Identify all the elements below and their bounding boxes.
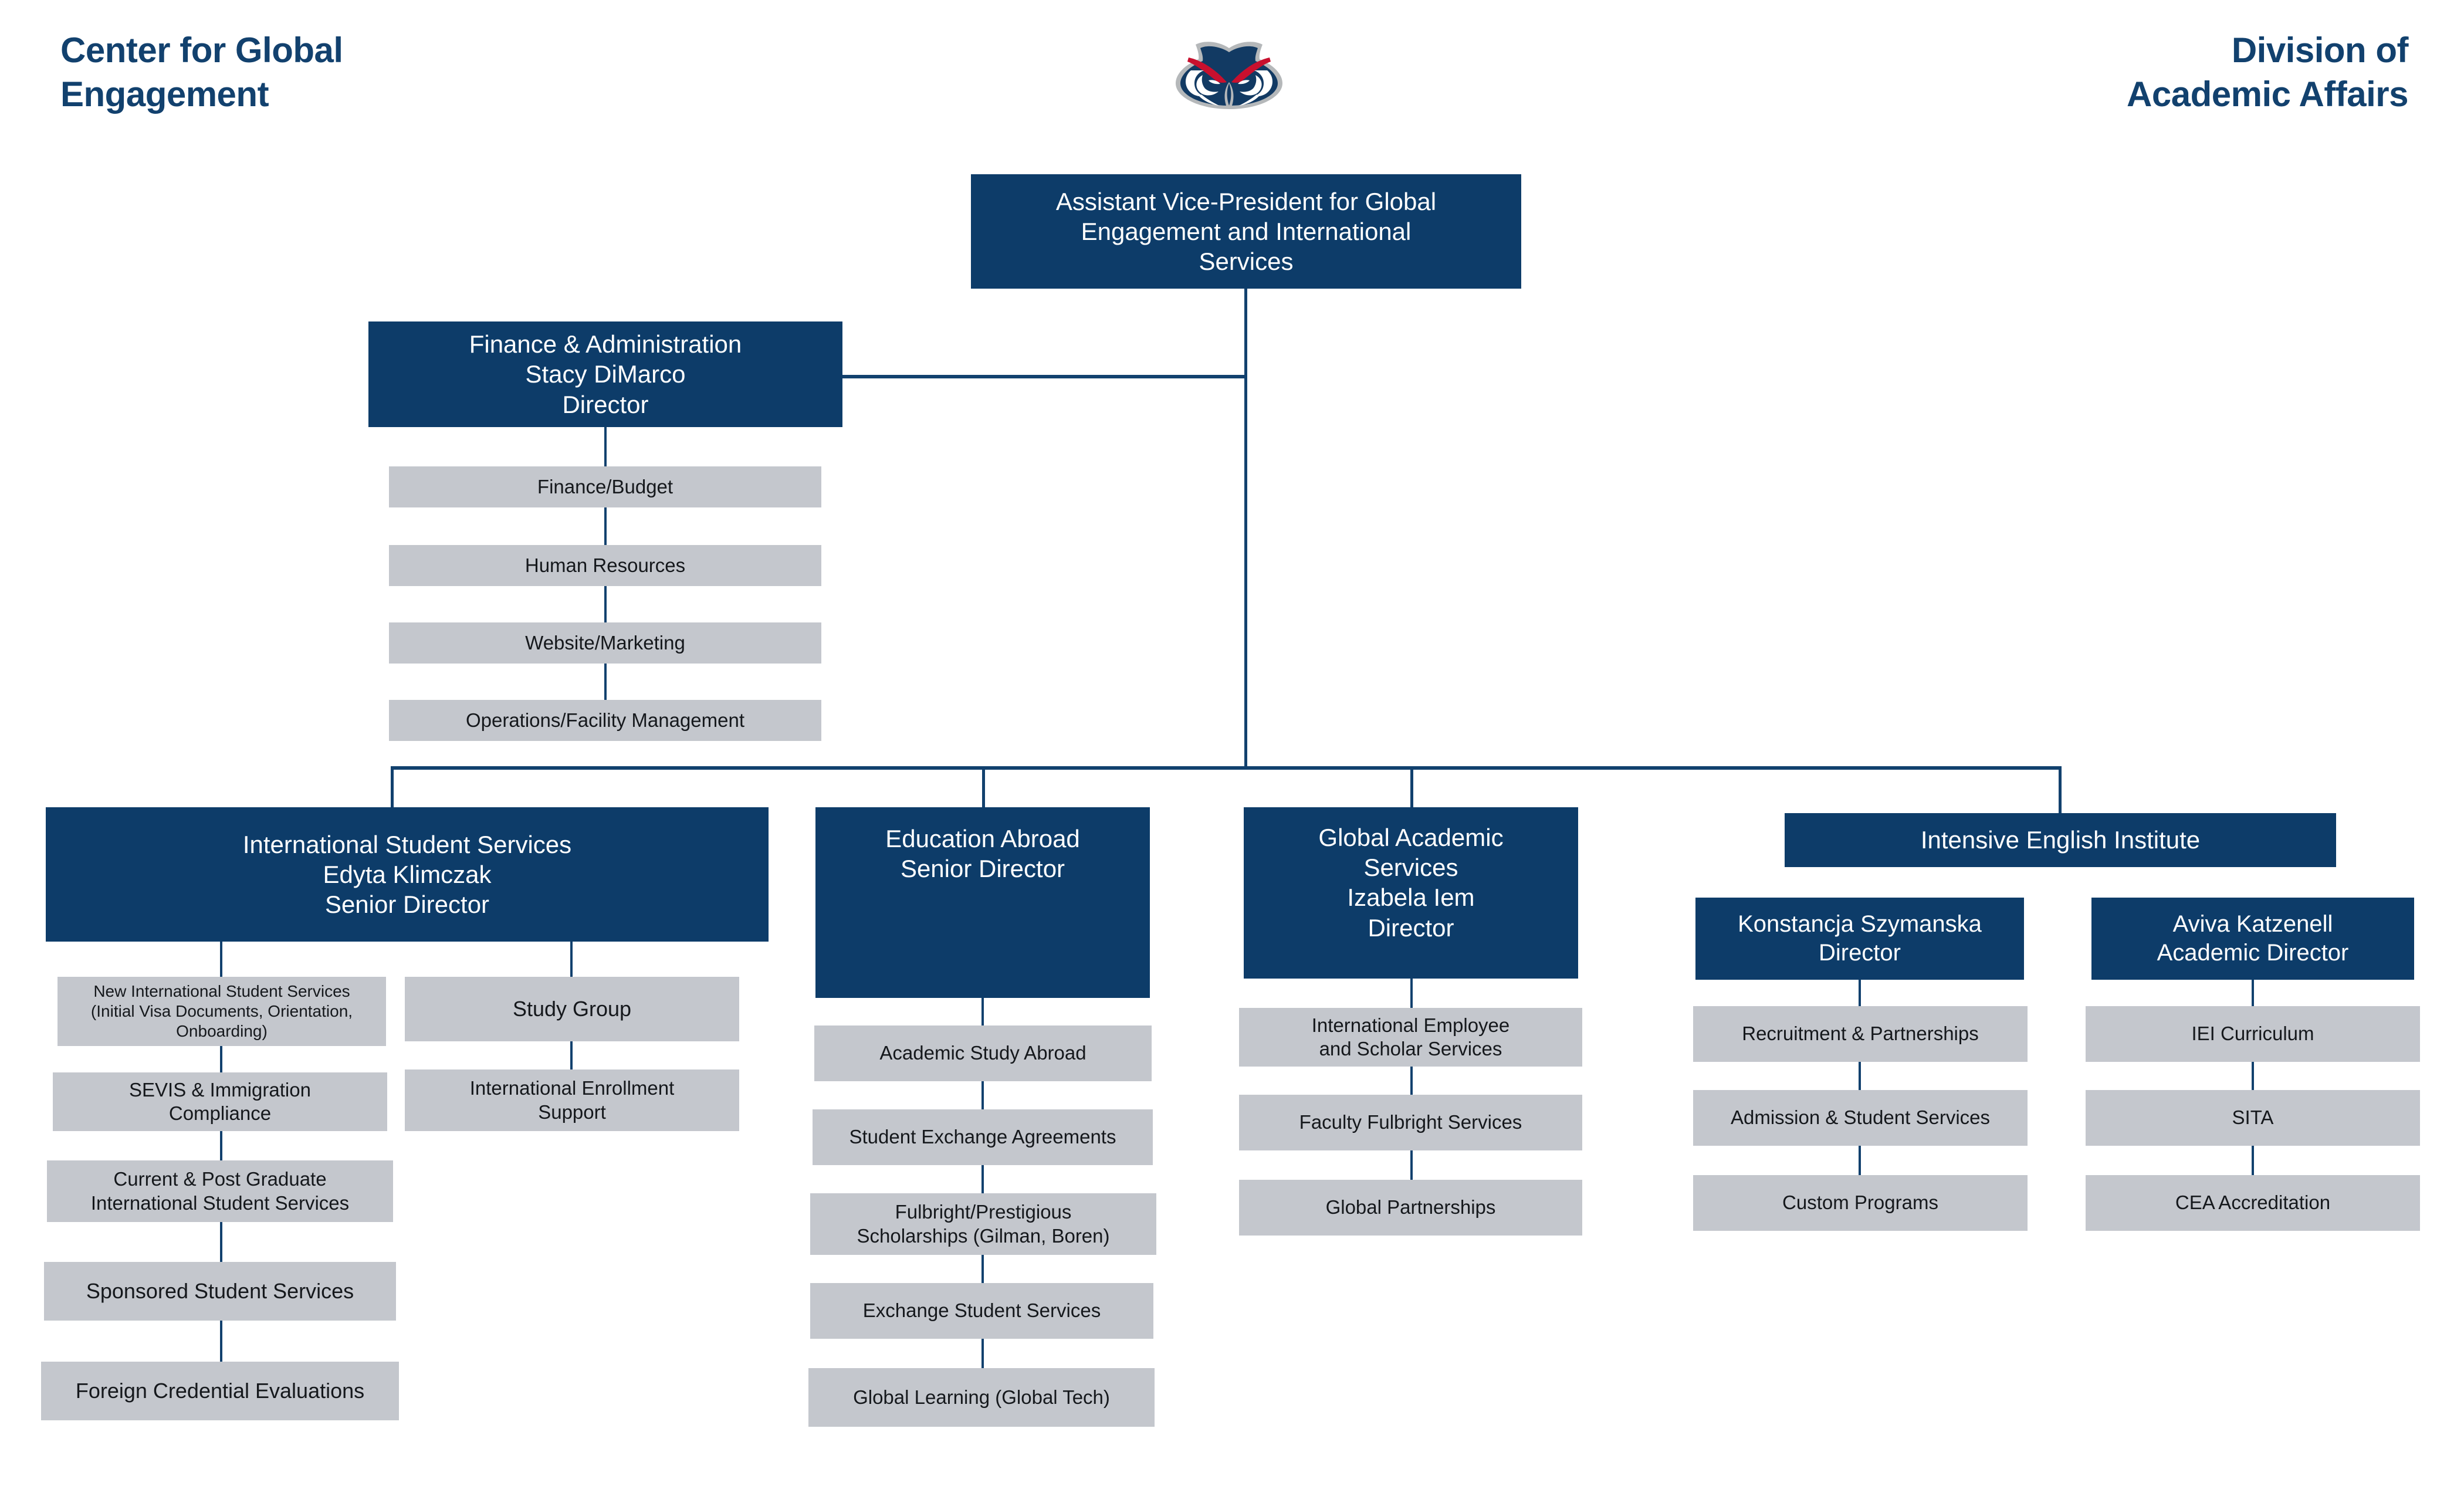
- connector-ea1-ea2: [981, 1081, 984, 1109]
- connector-finance-drop: [604, 427, 607, 466]
- node-sponsored-student-services[interactable]: Sponsored Student Services: [44, 1262, 396, 1321]
- node-konstancja-szymanska-director[interactable]: Konstancja Szymanska Director: [1695, 898, 2024, 980]
- node-sita[interactable]: SITA: [2086, 1090, 2420, 1146]
- connector-ieiacad1-2: [2252, 1062, 2254, 1090]
- node-intensive-english-institute[interactable]: Intensive English Institute: [1785, 813, 2336, 867]
- node-academic-study-abroad[interactable]: Academic Study Abroad: [814, 1025, 1152, 1081]
- node-website-marketing[interactable]: Website/Marketing: [389, 622, 821, 664]
- node-international-enrollment-support[interactable]: International Enrollment Support: [405, 1069, 739, 1131]
- connector-fin3-fin4: [604, 664, 607, 700]
- connector-fin1-fin2: [604, 507, 607, 545]
- connector-iss-right-drop: [570, 942, 573, 978]
- node-study-group[interactable]: Study Group: [405, 977, 739, 1041]
- connector-iss1-iss2: [220, 1046, 222, 1072]
- node-global-learning-global-tech[interactable]: Global Learning (Global Tech): [808, 1368, 1155, 1427]
- node-student-exchange-agreements[interactable]: Student Exchange Agreements: [813, 1109, 1153, 1165]
- page-title-right: Division of Academic Affairs: [1962, 28, 2408, 116]
- connector-iss-left-drop: [220, 942, 222, 978]
- page-title-left: Center for Global Engagement: [60, 28, 483, 116]
- node-custom-programs[interactable]: Custom Programs: [1693, 1175, 2028, 1231]
- node-current-post-graduate-international-student-services[interactable]: Current & Post Graduate International St…: [47, 1160, 393, 1222]
- node-international-student-services[interactable]: International Student Services Edyta Kli…: [46, 807, 769, 942]
- connector-bus-to-iss: [391, 766, 394, 807]
- node-operations-facility-management[interactable]: Operations/Facility Management: [389, 700, 821, 741]
- node-new-international-student-services[interactable]: New International Student Services (Init…: [57, 977, 386, 1046]
- node-global-partnerships[interactable]: Global Partnerships: [1239, 1180, 1582, 1236]
- node-faculty-fulbright-services[interactable]: Faculty Fulbright Services: [1239, 1095, 1582, 1150]
- node-exchange-student-services[interactable]: Exchange Student Services: [810, 1283, 1153, 1339]
- connector-ieidir-drop: [1859, 980, 1861, 1006]
- connector-division-bus: [391, 766, 2062, 770]
- connector-gas1-gas2: [1410, 1067, 1413, 1095]
- connector-ea-drop: [981, 998, 984, 1025]
- connector-finance-to-spine: [842, 375, 1246, 378]
- node-avp[interactable]: Assistant Vice-President for Global Enga…: [971, 174, 1521, 289]
- connector-iss2-iss3: [220, 1131, 222, 1160]
- connector-ieidir2-3: [1859, 1146, 1861, 1175]
- connector-gas-drop: [1410, 979, 1413, 1008]
- org-chart-canvas: Center for Global Engagement Division of…: [0, 0, 2464, 1496]
- connector-gas2-gas3: [1410, 1150, 1413, 1180]
- connector-ieiacad-drop: [2252, 980, 2254, 1006]
- connector-fin2-fin3: [604, 586, 607, 622]
- node-finance-budget[interactable]: Finance/Budget: [389, 466, 821, 507]
- connector-ieiacad2-3: [2252, 1146, 2254, 1175]
- connector-sg1-sg2: [570, 1041, 573, 1069]
- node-human-resources[interactable]: Human Resources: [389, 545, 821, 586]
- node-fulbright-prestigious-scholarships[interactable]: Fulbright/Prestigious Scholarships (Gilm…: [810, 1193, 1156, 1255]
- node-sevis-immigration-compliance[interactable]: SEVIS & Immigration Compliance: [53, 1072, 387, 1131]
- connector-bus-to-ea: [982, 766, 985, 807]
- connector-iss3-iss4: [220, 1222, 222, 1262]
- connector-iss4-iss5: [220, 1321, 222, 1362]
- node-cea-accreditation[interactable]: CEA Accreditation: [2086, 1175, 2420, 1231]
- connector-ea2-ea3: [981, 1165, 984, 1193]
- connector-ea3-ea4: [981, 1255, 984, 1283]
- connector-bus-to-iei: [2059, 766, 2062, 813]
- node-foreign-credential-evaluations[interactable]: Foreign Credential Evaluations: [41, 1362, 399, 1420]
- node-recruitment-partnerships[interactable]: Recruitment & Partnerships: [1693, 1006, 2028, 1062]
- connector-ea4-ea5: [981, 1339, 984, 1368]
- node-iei-curriculum[interactable]: IEI Curriculum: [2086, 1006, 2420, 1062]
- node-education-abroad[interactable]: Education Abroad Senior Director: [815, 807, 1150, 998]
- node-international-employee-scholar-services[interactable]: International Employee and Scholar Servi…: [1239, 1008, 1582, 1067]
- fau-owl-logo-icon: [1167, 40, 1291, 110]
- node-finance-administration[interactable]: Finance & Administration Stacy DiMarco D…: [368, 321, 842, 427]
- connector-bus-to-gas: [1410, 766, 1413, 807]
- node-admission-student-services[interactable]: Admission & Student Services: [1693, 1090, 2028, 1146]
- connector-ieidir1-2: [1859, 1062, 1861, 1090]
- node-global-academic-services[interactable]: Global Academic Services Izabela Iem Dir…: [1244, 807, 1578, 979]
- node-aviva-katzenell-academic-director[interactable]: Aviva Katzenell Academic Director: [2091, 898, 2414, 980]
- connector-avp-spine: [1244, 289, 1247, 767]
